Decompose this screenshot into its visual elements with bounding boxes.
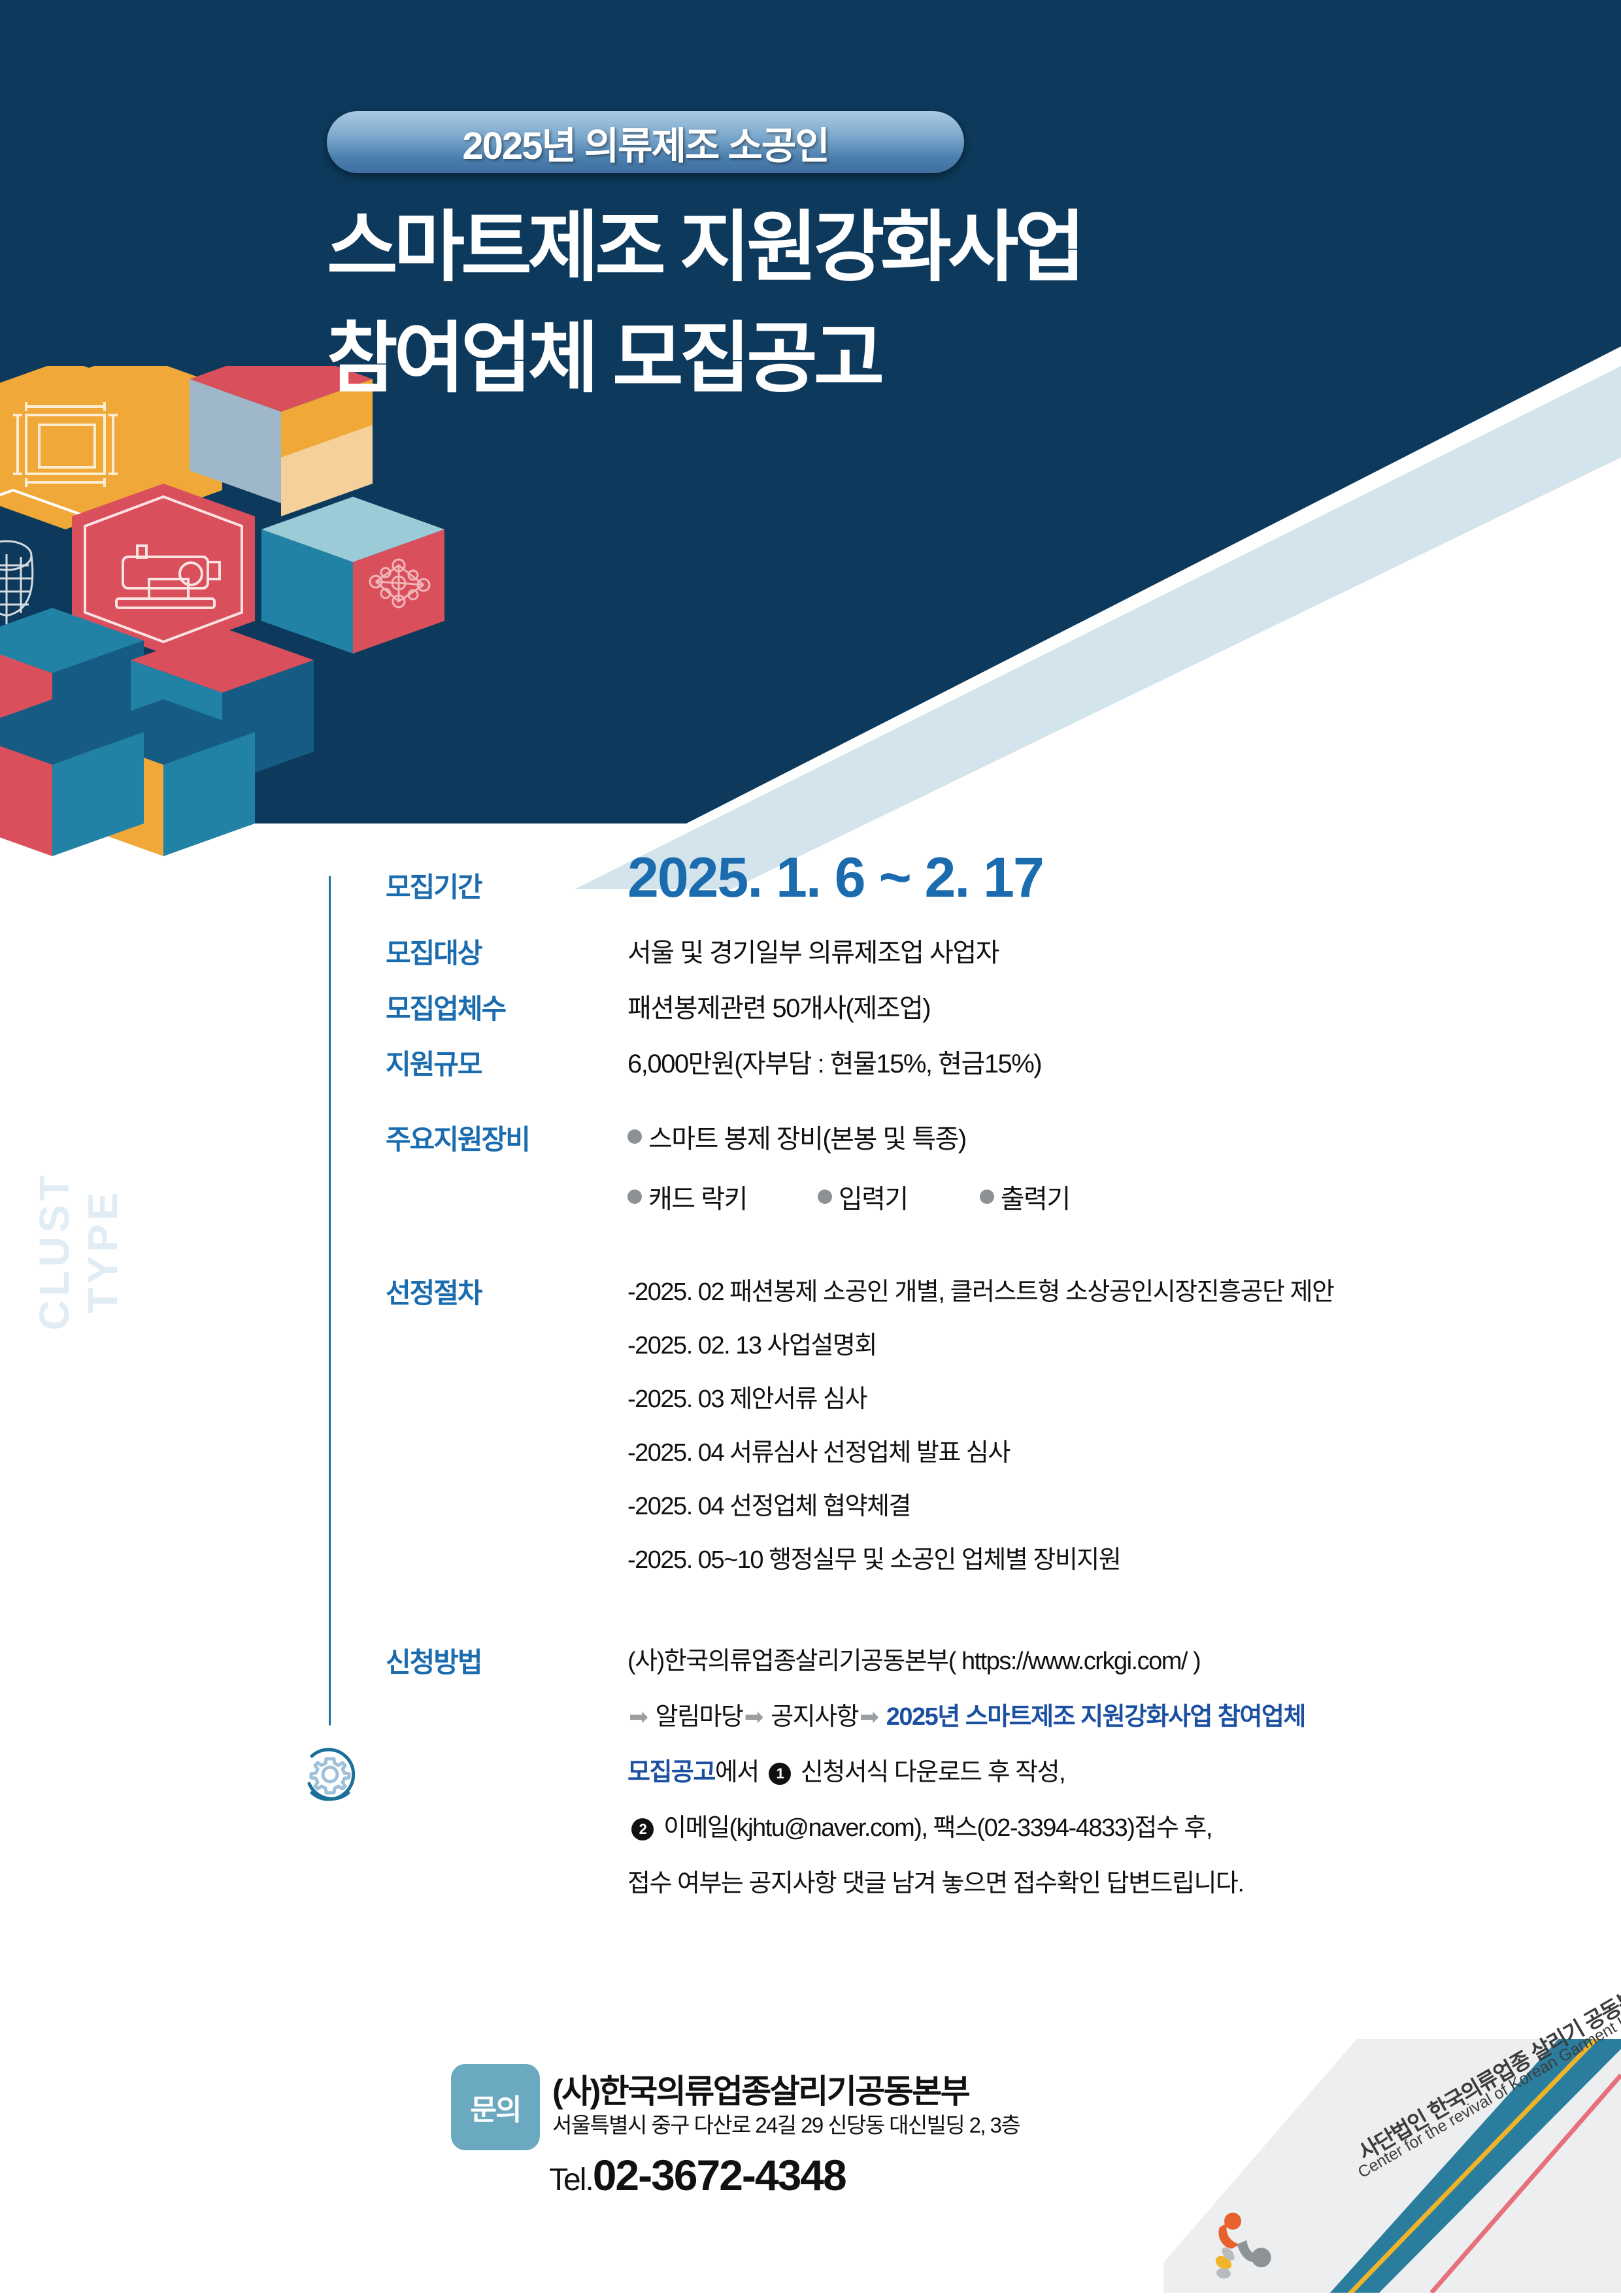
apply-nav-2: 공지사항 [771,1703,858,1731]
bullet-dot-icon [818,1190,832,1204]
procedure-step: -2025. 03 제안서류 심사 [627,1378,1333,1414]
value-period: 2025. 1. 6 ~ 2. 17 [627,850,1043,906]
tel-number: 02-3672-4348 [593,2151,846,2199]
value-company-count: 패션봉제관련 50개사(제조업) [627,987,930,1027]
label-procedure: 선정절차 [386,1271,627,1575]
apply-nav-1: 알림마당 [656,1703,743,1731]
equipment-main-text: 스마트 봉제 장비(본봉 및 특종) [648,1118,966,1156]
apply-navigation-line: ➡알림마당➡공지사항➡2025년 스마트제조 지원강화사업 참여업체 [627,1696,1305,1732]
vertical-accent-line [329,876,331,1725]
label-apply-method: 신청방법 [386,1640,627,1899]
label-target: 모집대상 [386,931,627,971]
step-number-1-icon: 1 [769,1763,791,1785]
arrow-right-icon: ➡ [860,1703,878,1730]
equipment-item-0: 캐드 락키 [627,1178,747,1216]
poster-title-line1: 스마트제조 지원강화사업 [327,209,1082,286]
value-company-count-bold: 패션봉제관련 50개사 [627,994,846,1023]
bullet-dot-icon [980,1190,994,1204]
arrow-right-icon: ➡ [629,1703,648,1730]
organization-address: 서울특별시 중구 다산로 24길 29 신당동 대신빌딩 2, 3층 [552,2108,1020,2139]
procedure-step: -2025. 05~10 행정실무 및 소공인 업체별 장비지원 [627,1539,1333,1575]
label-support-scale: 지원규모 [386,1042,627,1082]
logo-band: 사단법인 한국의류업종 살리기 공동본부 Center for the revi… [1163,2039,1621,2293]
header-badge-pill: 2025년 의류제조 소공인 [327,111,964,173]
info-row-equipment: 주요지원장비 스마트 봉제 장비(본봉 및 특종) 캐드 락키 입력기 출력기 [386,1118,1070,1216]
apply-notice-title: 모집공고 [627,1759,715,1786]
apply-nav-3: 2025년 스마트제조 지원강화사업 참여업체 [886,1703,1305,1731]
info-row-support-scale: 지원규모 6,000만원(자부담 : 현물15%, 현금15%) [386,1042,1041,1082]
value-target: 서울 및 경기일부 의류제조업 사업자 [627,931,999,971]
info-row-company-count: 모집업체수 패션봉제관련 50개사(제조업) [386,987,930,1027]
clust-type-side-label: CLUST TYPE [30,1120,127,1382]
procedure-step: -2025. 02. 13 사업설명회 [627,1325,1333,1361]
tel-label: Tel. [549,2163,593,2197]
info-row-period: 모집기간 2025. 1. 6 ~ 2. 17 [386,850,1043,906]
info-row-apply-method: 신청방법 (사)한국의류업종살리기공동본부( https://www.crkgi… [386,1640,1305,1899]
isometric-decoration-graphic [0,366,497,908]
footer: 문의 (사)한국의류업종살리기공동본부 서울특별시 중구 다산로 24길 29 … [0,2039,1621,2293]
label-equipment: 주요지원장비 [386,1118,627,1216]
equipment-item-label: 입력기 [839,1178,908,1216]
equipment-line-items: 캐드 락키 입력기 출력기 [627,1178,1070,1216]
procedure-step-list: -2025. 02 패션봉제 소공인 개별, 클러스트형 소상공인시장진흥공단 … [627,1271,1333,1575]
equipment-line-main: 스마트 봉제 장비(본봉 및 특종) [627,1118,1070,1156]
inquiry-badge: 문의 [451,2064,540,2150]
equipment-item-label: 캐드 락키 [648,1178,747,1216]
organization-telephone: Tel.02-3672-4348 [549,2150,846,2200]
apply-step2-line: 2 이메일(kjhtu@naver.com), 팩스(02-3394-4833)… [627,1807,1305,1843]
gear-icon [297,1742,363,1807]
arrow-right-icon: ➡ [744,1703,763,1730]
apply-homepage-line[interactable]: (사)한국의류업종살리기공동본부( https://www.crkgi.com/… [627,1640,1305,1676]
apply-confirm-line: 접수 여부는 공지사항 댓글 남겨 놓으면 접수확인 답변드립니다. [627,1863,1305,1899]
poster-title-line2: 참여업체 모집공고 [327,320,880,397]
step-number-2-icon: 2 [631,1818,654,1840]
apply-step2-text: 이메일(kjhtu@naver.com), 팩스(02-3394-4833)접수… [663,1814,1212,1842]
info-row-procedure: 선정절차 -2025. 02 패션봉제 소공인 개별, 클러스트형 소상공인시장… [386,1271,1333,1575]
value-support-scale: 6,000만원(자부담 : 현물15%, 현금15%) [627,1042,1041,1082]
equipment-item-2: 출력기 [980,1178,1070,1216]
header-badge-label: 2025년 의류제조 소공인 [462,115,828,170]
procedure-step: -2025. 02 패션봉제 소공인 개별, 클러스트형 소상공인시장진흥공단 … [627,1271,1333,1307]
organization-name: (사)한국의류업종살리기공동본부 [552,2065,969,2112]
procedure-step: -2025. 04 선정업체 협약체결 [627,1486,1333,1522]
apply-notice-suffix: 에서 [715,1759,759,1786]
equipment-item-label: 출력기 [1001,1178,1070,1216]
info-row-target: 모집대상 서울 및 경기일부 의류제조업 사업자 [386,931,999,971]
label-company-count: 모집업체수 [386,987,627,1027]
inquiry-badge-label: 문의 [471,2086,521,2128]
equipment-item-1: 입력기 [818,1178,908,1216]
apply-method-body: (사)한국의류업종살리기공동본부( https://www.crkgi.com/… [627,1640,1305,1899]
label-period: 모집기간 [386,850,627,906]
procedure-step: -2025. 04 서류심사 선정업체 발표 심사 [627,1432,1333,1468]
bullet-dot-icon [627,1190,642,1204]
value-company-count-rest: (제조업) [846,994,931,1023]
apply-step1-text: 신청서식 다운로드 후 작성, [801,1759,1065,1786]
apply-step1-line: 모집공고에서 1 신청서식 다운로드 후 작성, [627,1752,1305,1788]
bullet-dot-icon [627,1129,642,1144]
